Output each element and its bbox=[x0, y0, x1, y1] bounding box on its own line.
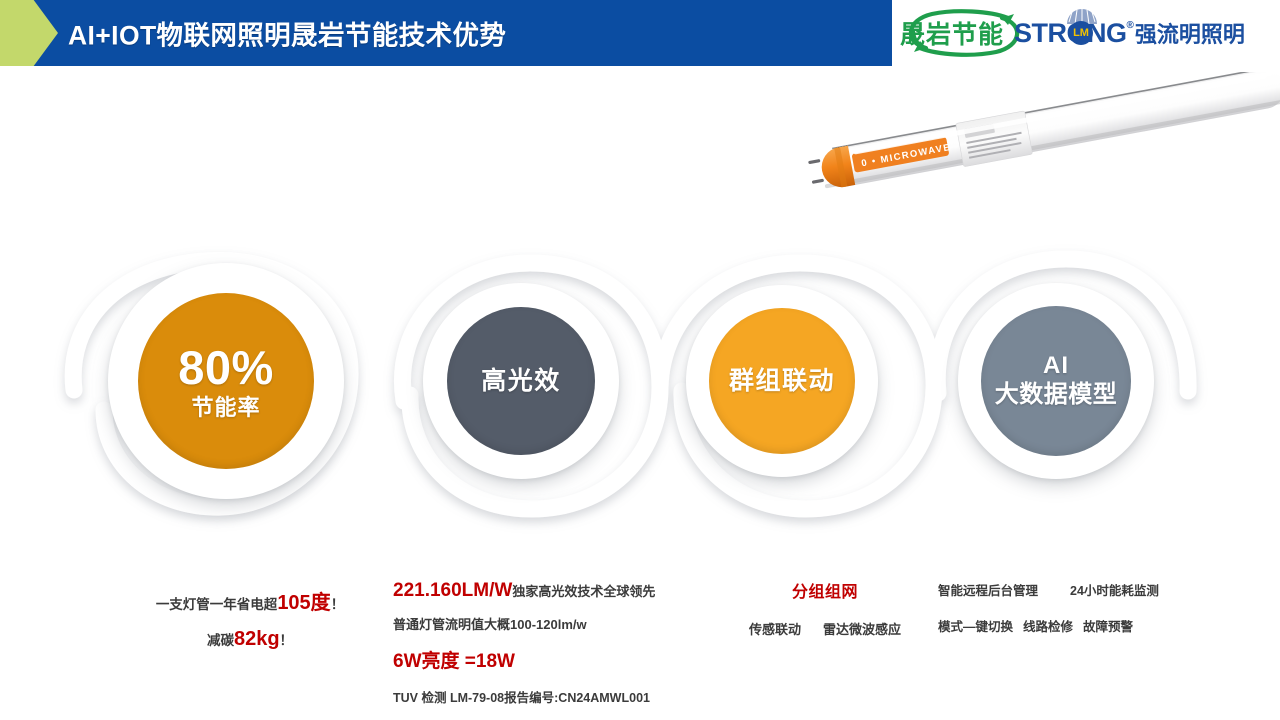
caption-text: ！ bbox=[280, 633, 294, 648]
node-label: 高光效 bbox=[481, 367, 561, 395]
caption-text: 故障预警 bbox=[1083, 620, 1133, 634]
led-tube-lamp-image: 0 • MICROWAVE bbox=[766, 72, 1280, 200]
logo-strong-group: STRONG LM ® bbox=[1014, 18, 1134, 49]
caption-line: 一支灯管一年省电超105度！ bbox=[100, 586, 400, 615]
caption-text: 减碳 bbox=[207, 633, 234, 648]
caption-highlight: 分组组网 bbox=[700, 578, 950, 602]
svg-text:0 • MICROWAVE: 0 • MICROWAVE bbox=[860, 142, 952, 169]
caption-ai-big-data: 智能远程后台管理24小时能耗监测 模式—键切换线路检修故障预警 bbox=[938, 580, 1228, 635]
caption-text: 24小时能耗监测 bbox=[1070, 584, 1159, 598]
caption-high-efficacy: 221.160LM/W独家高光效技术全球领先 普通灯管流明值大概100-120l… bbox=[393, 580, 723, 706]
page-title: AI+IOT物联网照明晟岩节能技术优势 bbox=[68, 14, 506, 53]
node-disc-high-efficacy: 高光效 bbox=[447, 307, 595, 455]
caption-text: 传感联动 bbox=[749, 622, 801, 637]
diagram-node-ai-big-data[interactable]: AI 大数据模型 bbox=[958, 283, 1154, 479]
logo-lm-badge: LM bbox=[1069, 21, 1093, 45]
caption-text: 线路检修 bbox=[1023, 620, 1073, 634]
node-sub-label: 节能率 bbox=[191, 396, 260, 421]
node-big-value: AI bbox=[1043, 353, 1069, 380]
brand-logo: 晟岩节能 STRONG LM ® 强流明照明 bbox=[892, 0, 1280, 66]
caption-text: 独家高光效技术全球领先 bbox=[512, 584, 655, 599]
node-label: 群组联动 bbox=[729, 367, 835, 395]
caption-line: 模式—键切换线路检修故障预警 bbox=[938, 616, 1228, 635]
caption-text: ！ bbox=[331, 597, 345, 612]
slide-canvas: AI+IOT物联网照明晟岩节能技术优势 晟岩节能 STRONG LM ® 强流明… bbox=[0, 0, 1280, 720]
caption-text: 智能远程后台管理 bbox=[938, 584, 1038, 598]
caption-highlight: 6W亮度 =18W bbox=[393, 646, 723, 673]
node-big-value: 80% bbox=[178, 342, 274, 395]
chevron-right-icon bbox=[0, 0, 58, 66]
node-disc-ai-big-data: AI 大数据模型 bbox=[981, 306, 1131, 456]
caption-line: 智能远程后台管理24小时能耗监测 bbox=[938, 580, 1228, 599]
caption-line: 减碳82kg！ bbox=[100, 628, 400, 651]
logo-brand-cn: 晟岩节能 bbox=[900, 15, 1004, 51]
node-disc-energy-saving: 80% 节能率 bbox=[138, 293, 314, 469]
diagram-node-energy-saving[interactable]: 80% 节能率 bbox=[108, 263, 344, 499]
process-diagram: 80% 节能率 高光效 群组联动 AI 大数据模型 bbox=[0, 205, 1280, 555]
caption-text: 模式—键切换 bbox=[938, 620, 1013, 634]
caption-line: 传感联动雷达微波感应 bbox=[700, 619, 950, 638]
node-sub-label: 大数据模型 bbox=[995, 382, 1118, 409]
caption-text: 雷达微波感应 bbox=[823, 622, 901, 637]
caption-highlight: 221.160LM/W bbox=[393, 580, 512, 601]
caption-line: TUV 检测 LM-79-08报告编号:CN24AMWL001 bbox=[393, 687, 723, 706]
caption-line: 221.160LM/W独家高光效技术全球领先 bbox=[393, 580, 723, 602]
caption-group-linkage: 分组组网 传感联动雷达微波感应 bbox=[700, 578, 950, 638]
caption-highlight: 105度 bbox=[277, 592, 330, 614]
registered-mark: ® bbox=[1127, 21, 1134, 31]
caption-text: 一支灯管一年省电超 bbox=[156, 597, 278, 612]
caption-line: 普通灯管流明值大概100-120lm/w bbox=[393, 614, 723, 633]
caption-highlight: 82kg bbox=[234, 628, 280, 650]
diagram-node-high-efficacy[interactable]: 高光效 bbox=[423, 283, 619, 479]
node-disc-group-linkage: 群组联动 bbox=[709, 308, 855, 454]
caption-energy-saving: 一支灯管一年省电超105度！ 减碳82kg！ bbox=[100, 586, 400, 651]
logo-brand-cn2: 强流明照明 bbox=[1135, 17, 1245, 49]
diagram-node-group-linkage[interactable]: 群组联动 bbox=[686, 285, 878, 477]
